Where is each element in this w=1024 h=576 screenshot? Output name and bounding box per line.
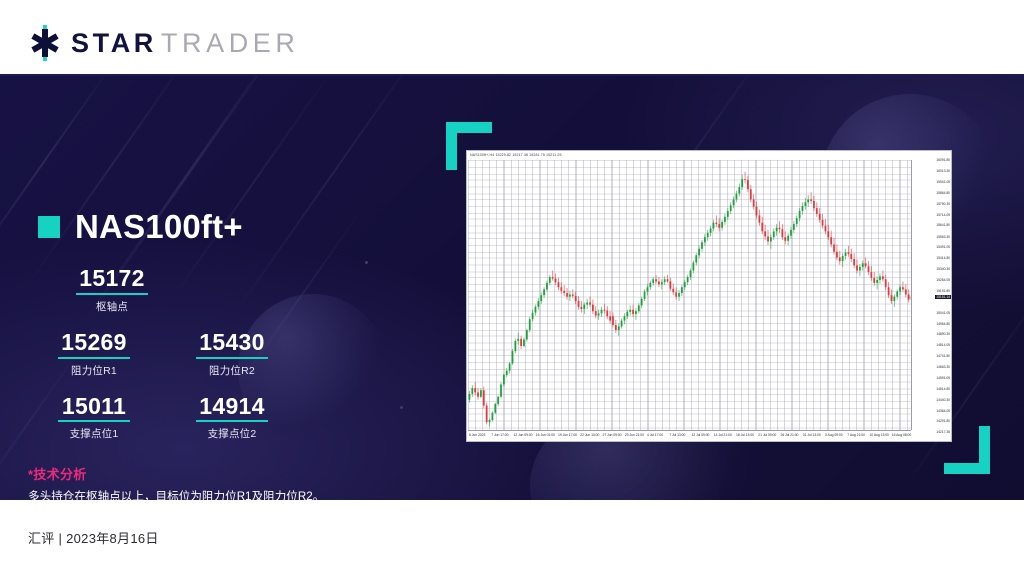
time-tick-label: 22 Jun 13:00	[580, 433, 599, 437]
price-tick-label: 14591.05	[936, 376, 950, 380]
time-axis[interactable]: 6 Jun 20237 Jun 17:0012 Jun 09:0016 Jun …	[468, 430, 911, 441]
pivot-point-block: 15172 枢轴点	[56, 266, 168, 314]
page-title: NAS100ft+	[75, 208, 243, 246]
support-2-block: 14914 支撑点位2	[176, 394, 288, 442]
asterisk-star-icon	[28, 26, 62, 60]
pivot-underline	[196, 357, 268, 359]
logo-accent-dot-top	[43, 25, 47, 29]
support-1-value: 15011	[38, 394, 150, 420]
price-tick-label: 15414.80	[936, 256, 950, 260]
chart-plot-area[interactable]	[468, 160, 911, 430]
price-tick-label: 16091.80	[936, 158, 950, 162]
pivot-underline	[58, 357, 130, 359]
price-tick-label: 14663.30	[936, 365, 950, 369]
pivot-point-label: 枢轴点	[56, 299, 168, 314]
price-tick-label: 14514.80	[936, 387, 950, 391]
technical-analysis: *技术分析 多头持仓在枢轴点以上，目标位为阻力位R1及阻力位R2。 若低于枢轴点…	[28, 464, 400, 500]
price-tick-label: 15714.05	[936, 213, 950, 217]
support-1-block: 15011 支撑点位1	[38, 394, 150, 442]
logo-accent-dot-bottom	[43, 57, 47, 61]
pivot-underline	[196, 420, 268, 422]
price-tick-label: 15264.05	[936, 278, 950, 282]
resistance-2-label: 阻力位R2	[176, 363, 288, 378]
pivot-underline	[76, 293, 148, 295]
time-tick-label: 12 Jul 09:00	[692, 433, 710, 437]
pivot-underline	[58, 420, 130, 422]
price-tick-label: 14440.30	[936, 398, 950, 402]
price-tick-label: 14890.30	[936, 332, 950, 336]
time-tick-label: 18 Jul 13:00	[736, 433, 754, 437]
time-tick-label: 27 Jun 09:00	[603, 433, 622, 437]
time-tick-label: 21 Jul 09:00	[758, 433, 776, 437]
price-tick-label: 14217.35	[936, 430, 950, 434]
resistance-1-value: 15269	[38, 330, 150, 356]
time-tick-label: 7 Aug 21:00	[847, 433, 865, 437]
price-tick-label: 14291.80	[936, 419, 950, 423]
chart-title: NAS100ft+,H4 15229.82 15217.38 15281.75 …	[467, 151, 951, 160]
price-tick-label: 15790.30	[936, 202, 950, 206]
support-1-label: 支撑点位1	[38, 426, 150, 441]
support-2-value: 14914	[176, 394, 288, 420]
time-tick-label: 4 Jul 17:00	[647, 433, 663, 437]
time-tick-label: 14 Jul 21:00	[714, 433, 732, 437]
price-tick-label: 15041.05	[936, 311, 950, 315]
analysis-heading: *技术分析	[28, 464, 400, 483]
current-price-label: 15151.14	[935, 295, 951, 299]
resistance-1-block: 15269 阻力位R1	[38, 330, 150, 378]
price-tick-label: 15563.30	[936, 235, 950, 239]
resistance-1-label: 阻力位R1	[38, 363, 150, 378]
support-2-label: 支撑点位2	[176, 426, 288, 441]
price-tick-label: 15641.80	[936, 223, 950, 227]
price-tick-label: 14814.05	[936, 343, 950, 347]
time-tick-label: 26 Jul 21:00	[781, 433, 799, 437]
time-tick-label: 7 Jun 17:00	[491, 433, 508, 437]
instrument-title-row: NAS100ft+	[38, 208, 243, 246]
time-tick-label: 29 Jun 21:00	[625, 433, 644, 437]
price-tick-label: 14741.80	[936, 354, 950, 358]
time-tick-label: 16 Jun 01:00	[536, 433, 555, 437]
price-tick-label: 15864.80	[936, 191, 950, 195]
time-tick-label: 6 Jun 2023	[469, 433, 485, 437]
time-tick-label: 31 Jul 13:00	[803, 433, 821, 437]
brand-name-primary: STAR	[71, 28, 157, 59]
candlestick-series	[468, 160, 911, 430]
price-tick-label: 14364.05	[936, 409, 950, 413]
decor-dot	[400, 406, 403, 409]
footer-caption: 汇评 | 2023年8月16日	[28, 528, 159, 547]
pivot-levels: 15172 枢轴点 15269 阻力位R1 15430 阻力位R2 15011 …	[38, 266, 298, 441]
time-tick-label: 12 Jun 09:00	[514, 433, 533, 437]
analysis-line-1: 多头持仓在枢轴点以上，目标位为阻力位R1及阻力位R2。	[28, 488, 400, 500]
page-header: STAR TRADER	[0, 0, 1024, 76]
price-tick-label: 14964.80	[936, 322, 950, 326]
pivot-point-value: 15172	[56, 266, 168, 292]
decor-dot	[365, 261, 368, 264]
title-bullet-square	[38, 216, 60, 238]
brand-name-secondary: TRADER	[161, 28, 300, 59]
time-tick-label: 7 Jul 13:00	[669, 433, 685, 437]
price-tick-label: 15340.30	[936, 267, 950, 271]
main-panel: NAS100ft+ 15172 枢轴点 15269 阻力位R1 15430 阻力…	[0, 76, 1024, 500]
page-footer: 汇评 | 2023年8月16日	[0, 500, 1024, 576]
resistance-2-value: 15430	[176, 330, 288, 356]
brand-logo[interactable]: STAR TRADER	[28, 26, 300, 60]
time-tick-label: 3 Aug 09:00	[825, 433, 843, 437]
price-axis[interactable]: 16091.8016013.3015941.0515864.8015790.30…	[911, 160, 951, 430]
price-tick-label: 16013.30	[936, 169, 950, 173]
price-chart[interactable]: NAS100ft+,H4 15229.82 15217.38 15281.75 …	[466, 150, 952, 442]
asterisk-star-svg	[28, 26, 62, 60]
price-tick-label: 15491.05	[936, 245, 950, 249]
time-tick-label: 10 Aug 13:00	[870, 433, 889, 437]
price-tick-label: 15941.05	[936, 180, 950, 184]
time-tick-label: 16 Aug 08:00	[892, 433, 911, 437]
price-tick-label: 15191.80	[936, 289, 950, 293]
time-tick-label: 19 Jun 17:00	[558, 433, 577, 437]
resistance-2-block: 15430 阻力位R2	[176, 330, 288, 378]
